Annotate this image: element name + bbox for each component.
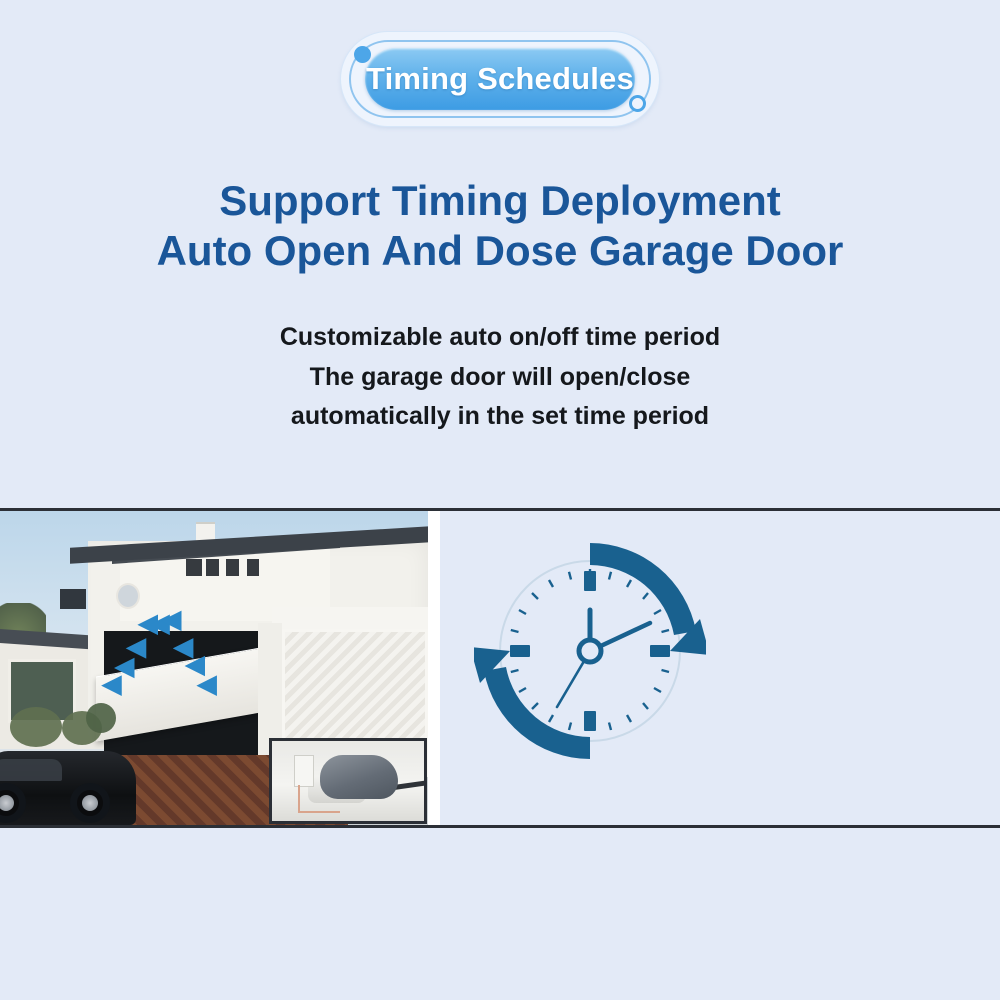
motor-wire (298, 785, 340, 813)
motor-inset (269, 738, 427, 824)
motor-mounting-plate (294, 755, 314, 787)
panel-divider (428, 511, 440, 825)
body-line-1: Customizable auto on/off time period (0, 318, 1000, 358)
garage-photo (0, 511, 428, 825)
badge-container: Timing Schedules (0, 32, 1000, 126)
timing-schedules-badge: Timing Schedules (341, 32, 659, 126)
body-line-2: The garage door will open/close (0, 358, 1000, 398)
body-copy: Customizable auto on/off time period The… (0, 318, 1000, 437)
badge-label: Timing Schedules (366, 61, 634, 97)
headline-line-1: Support Timing Deployment (219, 177, 781, 224)
clock-and-app-panel: HISTORY Today Morning08:59:53 Open Morn (440, 511, 1000, 825)
bottom-image-band: HISTORY Today Morning08:59:53 Open Morn (0, 508, 1000, 828)
badge-pill: Timing Schedules (365, 48, 635, 110)
headline: Support Timing Deployment Auto Open And … (0, 176, 1000, 275)
badge-node-bottom-right-icon (629, 95, 646, 112)
headline-line-2: Auto Open And Dose Garage Door (0, 226, 1000, 276)
timer-clock-icon (474, 535, 706, 767)
body-line-3: automatically in the set time period (0, 397, 1000, 437)
